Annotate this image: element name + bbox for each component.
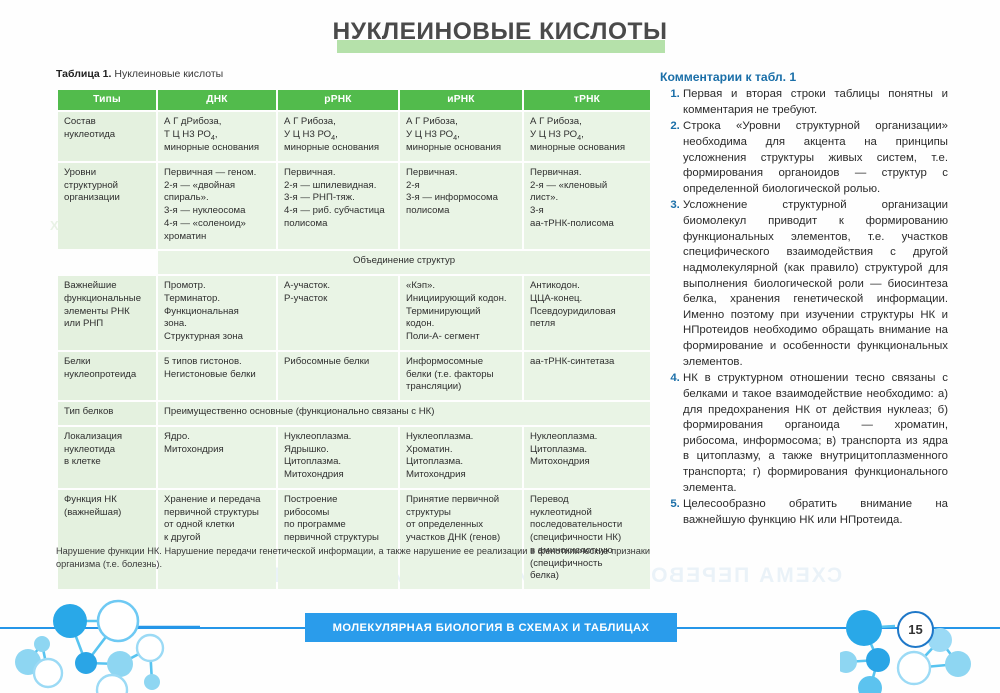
- table-row: УровниструктурнойорганизацииПервичная — …: [58, 163, 650, 250]
- table-row: Объединение структур: [58, 251, 650, 274]
- commentary-item: Первая и вторая строки таблицы понятны и…: [683, 87, 948, 118]
- table-merged-cell: Преимущественно основные (функционально …: [158, 402, 650, 425]
- table-row-label: Составнуклеотида: [58, 112, 156, 161]
- table-cell: Переводнуклеотиднойпоследовательности(сп…: [524, 490, 650, 589]
- table-row-label: Тип белков: [58, 402, 156, 425]
- table-body: СоставнуклеотидаА Г дРибоза,Т Ц Н3 РО4,м…: [58, 112, 650, 589]
- table-cell: Рибосомные белки: [278, 352, 398, 400]
- table-row-label: Функция НК(важнейшая): [58, 490, 156, 589]
- footer-banner: МОЛЕКУЛЯРНАЯ БИОЛОГИЯ В СХЕМАХ И ТАБЛИЦА…: [305, 613, 677, 642]
- table-row: Функция НК(важнейшая)Хранение и передача…: [58, 490, 650, 589]
- commentary-item: Целесообразно обратить внимание на важне…: [683, 497, 948, 528]
- table-cell: А Г Рибоза,У Ц Н3 РО4,минорные основания: [400, 112, 522, 161]
- table-cell: Построениерибосомыпо программепервичной …: [278, 490, 398, 589]
- page-title: НУКЛЕИНОВЫЕ КИСЛОТЫ: [333, 18, 668, 45]
- commentary-title: Комментарии к табл. 1: [660, 70, 948, 84]
- table-row-label: Белкинуклеопротеида: [58, 352, 156, 400]
- column-header-mrna: иРНК: [400, 90, 522, 110]
- table-merged-note: Объединение структур: [158, 251, 650, 274]
- table-cell: Антикодон.ЦЦА-конец.Псевдоуридиловаяпетл…: [524, 276, 650, 350]
- table-row: Важнейшиефункциональныеэлементы РНКили Р…: [58, 276, 650, 350]
- column-header-trna: тРНК: [524, 90, 650, 110]
- textbook-page: ХРОМАТИН СХЕМА ПЕРЕВОДА ГЕНЕТИЧЕСКОЙ ИНФ…: [0, 0, 1000, 693]
- column-header-rrna: рРНК: [278, 90, 398, 110]
- table-caption-text: Нуклеиновые кислоты: [114, 68, 223, 80]
- table-caption-label: Таблица 1.: [56, 68, 111, 80]
- table-cell: А Г Рибоза,У Ц Н3 РО4,минорные основания: [278, 112, 398, 161]
- column-header-dna: ДНК: [158, 90, 276, 110]
- commentary-item: НК в структурном отношении тесно связаны…: [683, 371, 948, 496]
- page-number: 15: [897, 611, 934, 648]
- table-row-label: Уровниструктурнойорганизации: [58, 163, 156, 250]
- table-row-label: Важнейшиефункциональныеэлементы РНКили Р…: [58, 276, 156, 350]
- table-footnote: Нарушение функции НК. Нарушение передачи…: [56, 545, 650, 572]
- commentary-item: Усложнение структурной организации биомо…: [683, 198, 948, 370]
- footer-banner-label: МОЛЕКУЛЯРНАЯ БИОЛОГИЯ В СХЕМАХ И ТАБЛИЦА…: [333, 622, 650, 634]
- table-cell-spacer: [58, 251, 156, 274]
- commentary-item: Строка «Уровни структурной организации» …: [683, 119, 948, 197]
- table-cell: Первичная.2-я — шпилевидная.3-я — РНП-тя…: [278, 163, 398, 250]
- table-cell: Первичная.2-я3-я — информосомаполисома: [400, 163, 522, 250]
- column-header-types: Типы: [58, 90, 156, 110]
- table-cell: Нуклеоплазма.Хроматин.Цитоплазма.Митохон…: [400, 427, 522, 488]
- table-row: Тип белковПреимущественно основные (функ…: [58, 402, 650, 425]
- table-cell: «Кэп».Инициирующий кодон.Терминирующийко…: [400, 276, 522, 350]
- table-row: Белкинуклеопротеида5 типов гистонов.Неги…: [58, 352, 650, 400]
- molecule-decoration-left: [0, 598, 200, 693]
- commentary-list: Первая и вторая строки таблицы понятны и…: [660, 87, 948, 529]
- table-cell: Ядро.Митохондрия: [158, 427, 276, 488]
- table-cell: 5 типов гистонов.Негистоновые белки: [158, 352, 276, 400]
- table-cell: аа-тРНК-синтетаза: [524, 352, 650, 400]
- table-row-label: Локализациянуклеотидав клетке: [58, 427, 156, 488]
- table-cell: Нуклеоплазма.Цитоплазма.Митохондрия: [524, 427, 650, 488]
- commentary-section: Комментарии к табл. 1 Первая и вторая ст…: [660, 70, 948, 530]
- table-cell: Нуклеоплазма.Ядрышко.Цитоплазма.Митохонд…: [278, 427, 398, 488]
- table-cell: Принятие первичнойструктурыот определенн…: [400, 490, 522, 589]
- table-caption: Таблица 1. Нуклеиновые кислоты: [56, 68, 223, 80]
- table-row: СоставнуклеотидаА Г дРибоза,Т Ц Н3 РО4,м…: [58, 112, 650, 161]
- table-cell: А Г дРибоза,Т Ц Н3 РО4,минорные основани…: [158, 112, 276, 161]
- table-row: Локализациянуклеотидав клеткеЯдро.Митохо…: [58, 427, 650, 488]
- table-cell: А-участок.Р-участок: [278, 276, 398, 350]
- table-cell: Хранение и передачапервичной структурыот…: [158, 490, 276, 589]
- table-cell: Первичная.2-я — «кленовыйлист».3-яаа-тРН…: [524, 163, 650, 250]
- table-cell: А Г Рибоза,У Ц Н3 РО4,минорные основания: [524, 112, 650, 161]
- table-cell: Промотр.Терминатор.Функциональнаязона.Ст…: [158, 276, 276, 350]
- nucleic-acids-table: Типы ДНК рРНК иРНК тРНК Составнуклеотида…: [56, 88, 652, 591]
- table-header-row: Типы ДНК рРНК иРНК тРНК: [58, 90, 650, 110]
- table-cell: Первичная — геном.2-я — «двойнаяспираль»…: [158, 163, 276, 250]
- page-title-wrap: НУКЛЕИНОВЫЕ КИСЛОТЫ: [0, 18, 1000, 46]
- table-cell: Информосомныебелки (т.е. факторытрансляц…: [400, 352, 522, 400]
